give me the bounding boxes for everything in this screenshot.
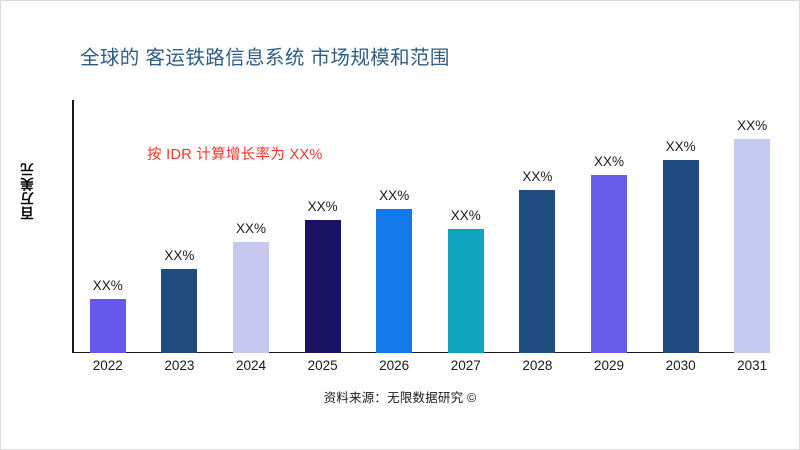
bar-series: XX%XX%XX%XX%XX%XX%XX%XX%XX%XX% bbox=[72, 100, 788, 353]
bar-value-label: XX% bbox=[93, 278, 123, 293]
source-note: 资料来源：无限数据研究 © bbox=[1, 387, 799, 406]
bar-group: XX% bbox=[645, 100, 717, 353]
y-axis-label: 百万美元 bbox=[17, 131, 41, 251]
x-tick-label: 2026 bbox=[358, 358, 430, 373]
x-tick-label: 2024 bbox=[215, 358, 287, 373]
bar-group: XX% bbox=[72, 100, 144, 353]
x-tick-label: 2023 bbox=[144, 358, 216, 373]
bar[interactable] bbox=[448, 229, 484, 353]
bar[interactable] bbox=[591, 175, 627, 353]
bar-group: XX% bbox=[215, 100, 287, 353]
bar-group: XX% bbox=[502, 100, 574, 353]
bar-group: XX% bbox=[573, 100, 645, 353]
bar-value-label: XX% bbox=[164, 248, 194, 263]
bar[interactable] bbox=[663, 160, 699, 353]
x-tick-label: 2022 bbox=[72, 358, 144, 373]
bar[interactable] bbox=[305, 220, 341, 353]
x-tick-label: 2031 bbox=[716, 358, 788, 373]
x-tick-label: 2028 bbox=[502, 358, 574, 373]
x-tick-label: 2027 bbox=[430, 358, 502, 373]
bar-group: XX% bbox=[430, 100, 502, 353]
x-tick-label: 2025 bbox=[287, 358, 359, 373]
bar[interactable] bbox=[519, 190, 555, 353]
bar[interactable] bbox=[161, 269, 197, 353]
bar-value-label: XX% bbox=[666, 139, 696, 154]
bar[interactable] bbox=[376, 209, 412, 353]
bar-value-label: XX% bbox=[737, 118, 767, 133]
page-title: 全球的 客运铁路信息系统 市场规模和范围 bbox=[80, 41, 450, 70]
bar-value-label: XX% bbox=[236, 221, 266, 236]
bar-group: XX% bbox=[287, 100, 359, 353]
y-axis-label-text: 百万美元 bbox=[19, 162, 39, 220]
bar[interactable] bbox=[233, 242, 269, 353]
bar-value-label: XX% bbox=[451, 208, 481, 223]
x-axis-tick-labels: 2022202320242025202620272028202920302031 bbox=[72, 358, 788, 380]
x-tick-label: 2029 bbox=[573, 358, 645, 373]
bar-value-label: XX% bbox=[522, 169, 552, 184]
bar-value-label: XX% bbox=[308, 199, 338, 214]
bar-group: XX% bbox=[716, 100, 788, 353]
chart-card: 全球的 客运铁路信息系统 市场规模和范围 百万美元 按 IDR 计算增长率为 X… bbox=[0, 0, 800, 450]
bar[interactable] bbox=[90, 299, 126, 353]
bar[interactable] bbox=[734, 139, 770, 353]
bar-group: XX% bbox=[358, 100, 430, 353]
bar-value-label: XX% bbox=[594, 154, 624, 169]
bar-value-label: XX% bbox=[379, 188, 409, 203]
x-tick-label: 2030 bbox=[645, 358, 717, 373]
bar-group: XX% bbox=[144, 100, 216, 353]
